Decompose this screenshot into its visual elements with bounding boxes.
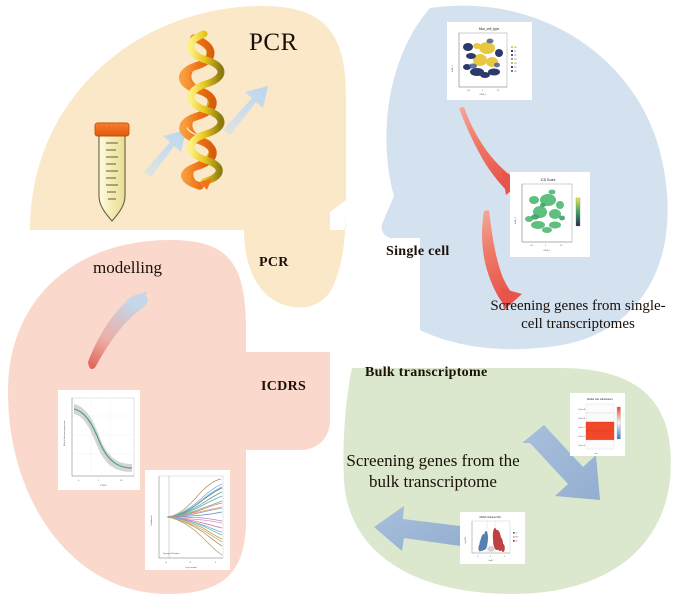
y-axis-label: Risk of disease progression — [63, 420, 66, 446]
svg-text:Dn: Dn — [516, 533, 518, 535]
svg-text:5: 5 — [504, 556, 505, 558]
pcr-title: PCR — [249, 29, 298, 58]
svg-text:C0: C0 — [514, 47, 516, 49]
colorbar — [576, 198, 580, 226]
chart-annotation: Degrees of Freedom — [163, 553, 180, 555]
svg-text:0: 0 — [490, 556, 491, 558]
colorbar — [617, 407, 621, 439]
gradient-arrow-icon — [144, 130, 186, 177]
blue-block-arrow-icon-left — [374, 506, 460, 551]
caption-bulk: Screening genes from the bulk transcript… — [343, 450, 523, 493]
svg-text:-log10(P): -log10(P) — [465, 536, 467, 544]
chart-forest-heatmap: Model risk subclusters Cluster A Cluster… — [570, 393, 625, 456]
x-axis-label: logFC — [489, 560, 494, 562]
svg-text:tSNE_2: tSNE_2 — [514, 216, 517, 224]
svg-text:C6: C6 — [514, 71, 516, 73]
icdrs-label: ICDRS — [261, 379, 306, 395]
svg-text:C4: C4 — [514, 63, 516, 65]
chart-title: mRNA Volcano Plot — [479, 516, 501, 519]
svg-text:Cluster D: Cluster D — [578, 435, 586, 438]
svg-text:Cluster B: Cluster B — [578, 417, 586, 420]
svg-text:tSNE_1: tSNE_1 — [480, 93, 488, 96]
swoosh-arrow-icon — [88, 291, 148, 369]
svg-text:tSNE_1: tSNE_1 — [544, 249, 552, 252]
dna-helix-icon — [183, 34, 221, 190]
svg-text:Cluster E: Cluster E — [578, 444, 586, 447]
svg-text:tSNE_2: tSNE_2 — [451, 64, 454, 72]
svg-text:Cluster A: Cluster A — [578, 408, 586, 411]
workflow-figure: Mus_cell_type — [0, 0, 686, 613]
bulk-transcriptome-label: Bulk transcriptome — [365, 365, 487, 381]
svg-text:C5: C5 — [514, 67, 516, 69]
svg-text:Cluster C: Cluster C — [578, 426, 586, 429]
pcr-bold-label: PCR — [259, 255, 289, 271]
svg-text:Up: Up — [516, 541, 518, 543]
heatmap-rows — [586, 404, 614, 449]
caption-single-cell: Screening genes from single-cell transcr… — [483, 297, 673, 333]
svg-text:C2: C2 — [514, 55, 516, 57]
chart-umap-score: ICD Score — [510, 172, 590, 257]
chart-umap-celltype: Mus_cell_type — [447, 22, 532, 100]
x-axis-label: ICDRS — [100, 485, 107, 487]
chart-lasso-path: -6-30 Coefficients Log Lambda Degrees of… — [145, 470, 230, 570]
svg-text:C1: C1 — [514, 51, 516, 53]
chart-volcano: mRNA Volcano Plot — [460, 512, 525, 564]
chart-spline-curve: 0510 Risk of disease progression ICDRS — [58, 390, 140, 490]
y-axis-label: Coefficients — [150, 515, 153, 526]
modelling-label: modelling — [93, 258, 162, 278]
chart-legend: Dn NS Up — [513, 532, 518, 543]
svg-text:risk: risk — [595, 453, 598, 455]
chart-title: Mus_cell_type — [479, 27, 500, 31]
svg-text:C3: C3 — [514, 59, 516, 61]
chart-title: ICD Score — [541, 178, 556, 182]
x-axis-label: Log Lambda — [185, 567, 197, 569]
chart-title: Model risk subclusters — [587, 397, 613, 401]
centrifuge-tube-icon — [95, 123, 129, 221]
gradient-arrow-icon-2 — [223, 86, 268, 135]
svg-text:-5: -5 — [477, 556, 479, 558]
single-cell-label: Single cell — [386, 244, 450, 260]
svg-text:NS: NS — [516, 537, 518, 539]
